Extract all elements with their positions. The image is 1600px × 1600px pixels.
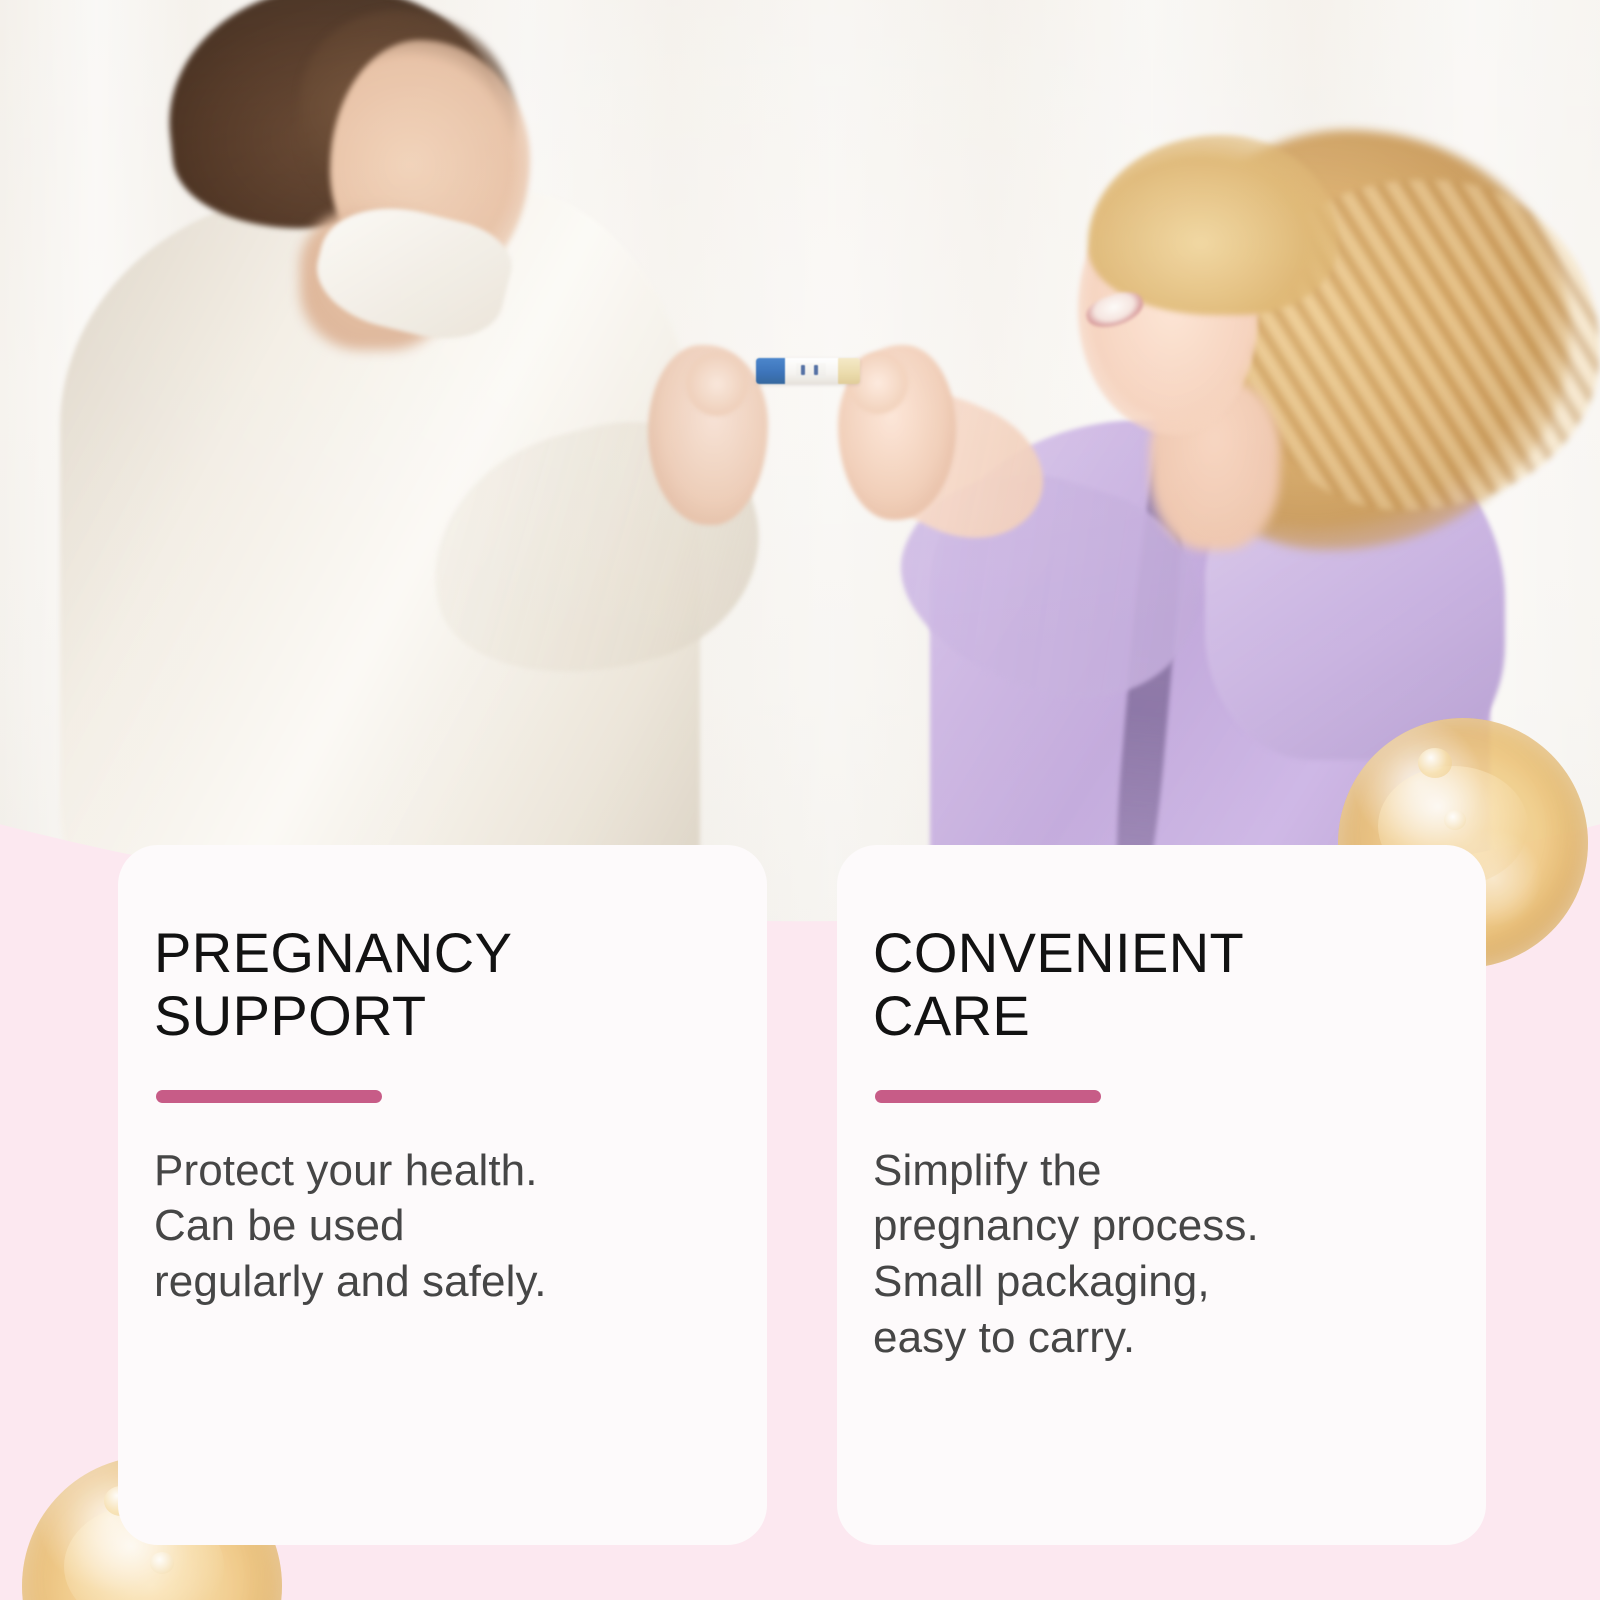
feature-card-body: Simplify the pregnancy process. Small pa… [873, 1143, 1440, 1367]
test-result-line-control [801, 365, 805, 375]
feature-card-title: PREGNANCY SUPPORT [154, 921, 721, 1048]
test-absorbent-tip [838, 358, 860, 384]
feature-card-body: Protect your health. Can be used regular… [154, 1143, 721, 1311]
man-thumb [686, 352, 748, 416]
promo-page: PREGNANCY SUPPORT Protect your health. C… [0, 0, 1600, 1600]
test-result-line-test [814, 365, 818, 375]
test-cap [756, 358, 786, 384]
feature-card-title: CONVENIENT CARE [873, 921, 1440, 1048]
accent-rule [875, 1090, 1101, 1103]
feature-card-list: PREGNANCY SUPPORT Protect your health. C… [118, 845, 1486, 1545]
gold-droplet-bubble [150, 1552, 174, 1574]
feature-card-pregnancy-support[interactable]: PREGNANCY SUPPORT Protect your health. C… [118, 845, 767, 1545]
accent-rule [156, 1090, 382, 1103]
feature-card-convenient-care[interactable]: CONVENIENT CARE Simplify the pregnancy p… [837, 845, 1486, 1545]
hero-image [0, 0, 1600, 980]
pregnancy-test-stick [756, 358, 860, 384]
